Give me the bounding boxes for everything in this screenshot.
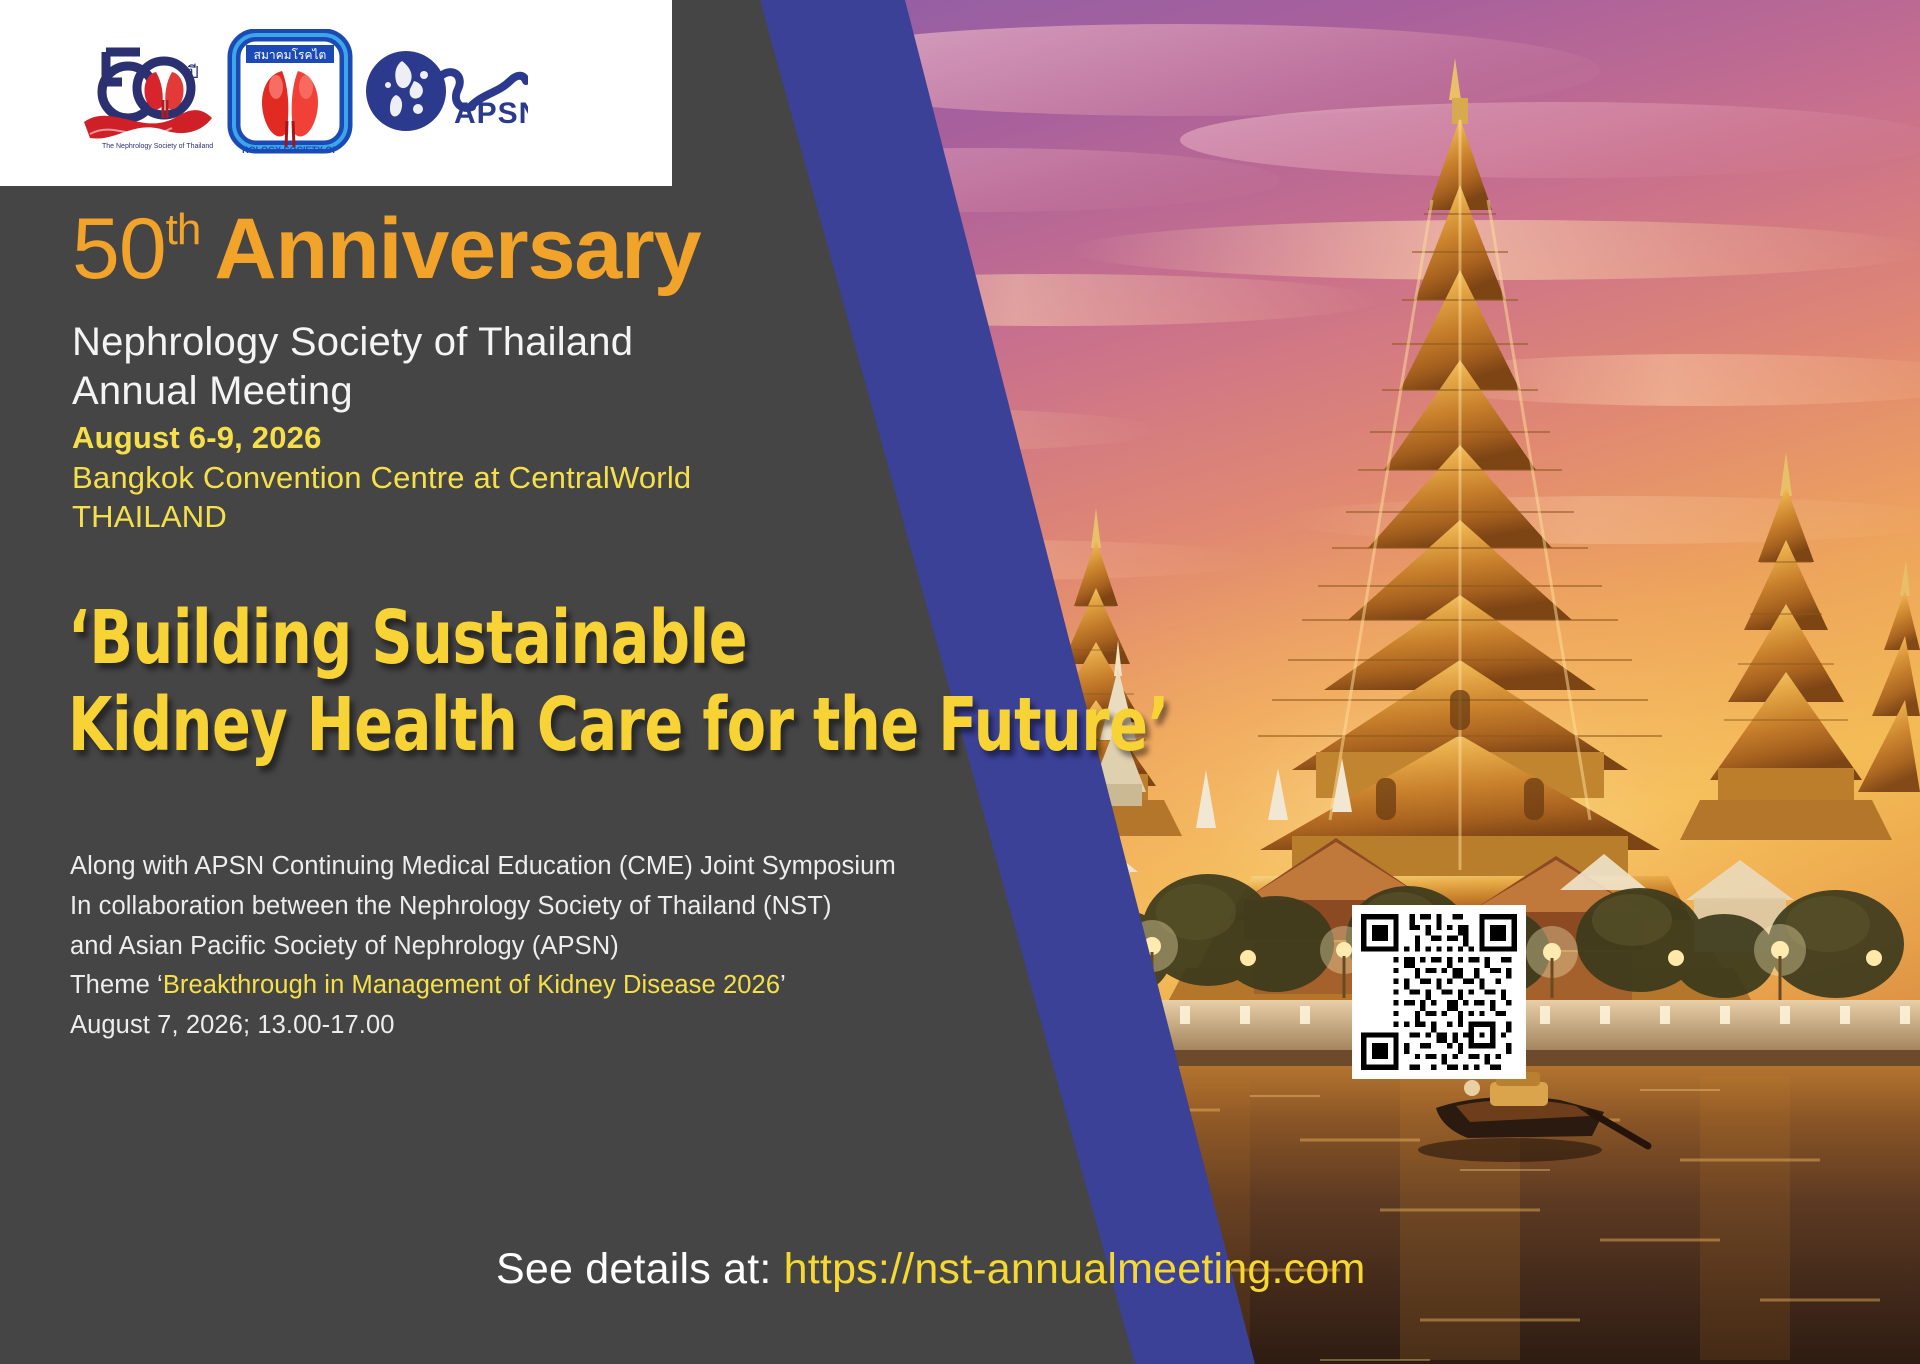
- website-details: See details at: https://nst-annualmeetin…: [496, 1245, 1365, 1294]
- details-label: See details at:: [496, 1245, 784, 1293]
- event-details-block: August 6-9, 2026 Bangkok Convention Cent…: [72, 418, 691, 537]
- conference-poster: ปี The Nephrology Society of Thailand สม…: [0, 0, 1920, 1364]
- organization-subtitle: Nephrology Society of Thailand Annual Me…: [72, 318, 633, 416]
- anniversary-word: Anniversary: [214, 201, 700, 297]
- meeting-slogan: ‘Building Sustainable Kidney Health Care…: [68, 595, 1169, 768]
- anniversary-number: 50: [72, 201, 166, 297]
- org-line-1: Nephrology Society of Thailand: [72, 318, 633, 367]
- page-title: 50thAnniversary: [72, 206, 701, 292]
- theme-title: Breakthrough in Management of Kidney Dis…: [163, 971, 780, 999]
- anniversary-suffix: th: [166, 205, 201, 254]
- collaboration-details: Along with APSN Continuing Medical Educa…: [70, 847, 896, 1046]
- event-dates: August 6-9, 2026: [72, 418, 691, 458]
- poster-content: 50thAnniversary Nephrology Society of Th…: [0, 0, 1150, 1364]
- slogan-line-1: ‘Building Sustainable: [68, 595, 1169, 682]
- fineprint-line-1: Along with APSN Continuing Medical Educa…: [70, 847, 896, 887]
- fineprint-line-3: and Asian Pacific Society of Nephrology …: [70, 927, 896, 967]
- org-line-2: Annual Meeting: [72, 367, 633, 416]
- slogan-line-2: Kidney Health Care for the Future’: [68, 682, 1169, 769]
- event-venue: Bangkok Convention Centre at CentralWorl…: [72, 458, 691, 498]
- fineprint-line-2: In collaboration between the Nephrology …: [70, 887, 896, 927]
- theme-suffix: ’: [780, 971, 786, 999]
- fineprint-theme-line: Theme ‘Breakthrough in Management of Kid…: [70, 966, 896, 1006]
- event-country: THAILAND: [72, 497, 691, 537]
- theme-prefix: Theme ‘: [70, 971, 163, 999]
- fineprint-line-5: August 7, 2026; 13.00-17.00: [70, 1006, 896, 1046]
- website-url[interactable]: https://nst-annualmeeting.com: [784, 1245, 1366, 1293]
- qr-code[interactable]: [1352, 905, 1526, 1079]
